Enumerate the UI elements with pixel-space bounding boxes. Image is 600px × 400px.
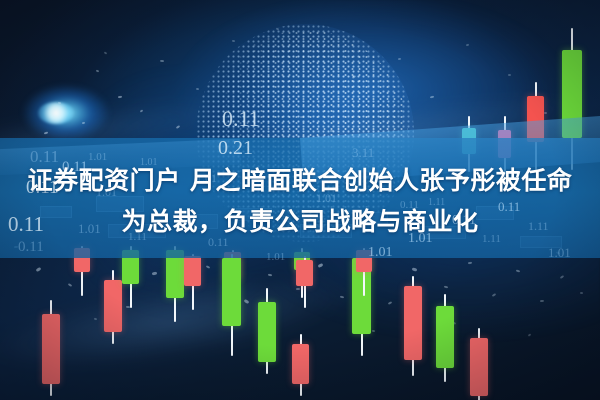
cover-image: 0.111.010.111.010.111.010.111.010.111.11… [0,0,600,400]
price-number: 1.01 [368,246,393,260]
headline-text: 证券配资门户 月之暗面联合创始人张予彤被任命 为总裁，负责公司战略与商业化 [0,160,600,242]
price-number: 1.01 [266,252,285,263]
price-number: 1.01 [548,246,571,259]
headline-line-1: 证券配资门户 月之暗面联合创始人张予彤被任命 [0,160,600,201]
price-number: 0.21 [218,138,253,158]
price-number: 0.11 [222,108,260,130]
price-number: 0.11 [18,240,44,255]
headline-line-2: 为总裁，负责公司战略与商业化 [0,201,600,242]
price-number: 3.11 [352,146,374,159]
